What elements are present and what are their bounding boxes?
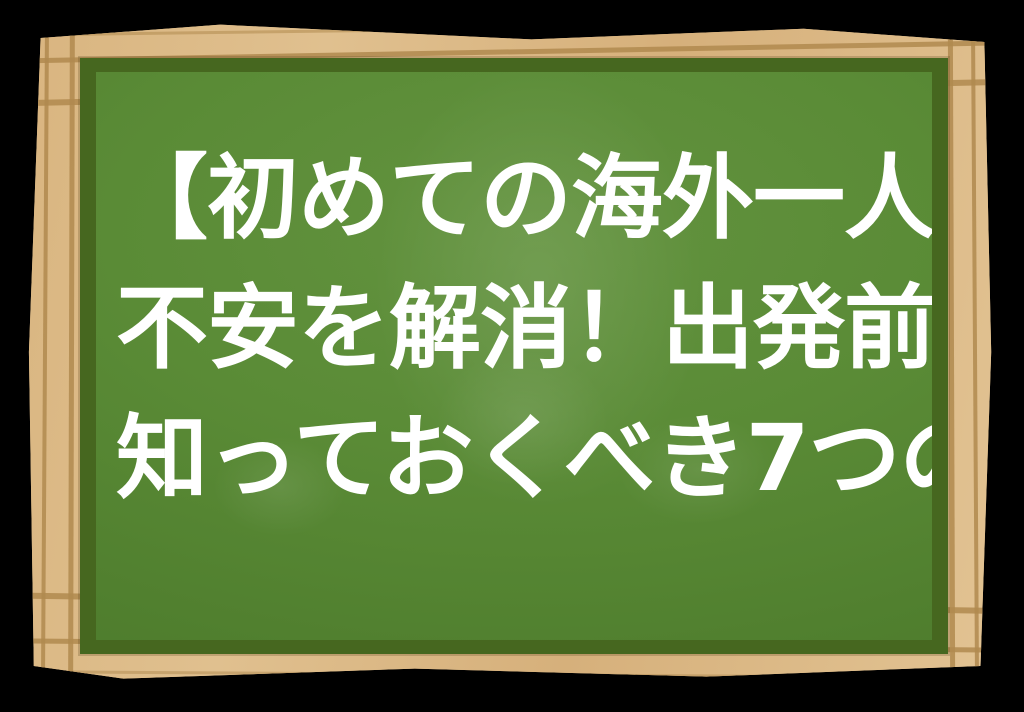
chalkboard-inner-rim: 【初めての海外一人旅】 不安を解消！出発前に 知っておくべき7つのこと <box>80 58 948 654</box>
title-line-1: 【初めての海外一人旅】 <box>116 134 920 264</box>
title-line-3: 知っておくべき7つのこと <box>116 394 920 524</box>
screenshot-canvas: 【初めての海外一人旅】 不安を解消！出発前に 知っておくべき7つのこと <box>0 0 1024 712</box>
chalkboard-surface: 【初めての海外一人旅】 不安を解消！出発前に 知っておくべき7つのこと <box>96 72 932 640</box>
title-block: 【初めての海外一人旅】 不安を解消！出発前に 知っておくべき7つのこと <box>116 134 920 524</box>
title-line-2: 不安を解消！出発前に <box>116 264 920 394</box>
